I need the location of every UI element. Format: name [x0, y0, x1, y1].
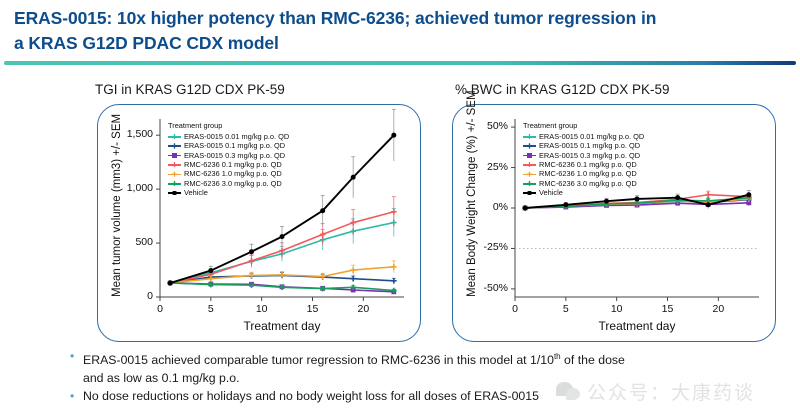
chart-panel-bwc: 50%25%0%-25%-50%05101520Treatment dayMea…: [452, 104, 776, 342]
legend-marker-icon: [168, 188, 181, 197]
legend-marker-icon: [523, 160, 536, 169]
data-point: [249, 249, 254, 254]
legend-item-label: Vehicle: [184, 188, 208, 197]
y-tick-label: -25%: [453, 241, 508, 253]
data-point: [351, 175, 356, 180]
legend-item: RMC-6236 3.0 mg/kg p.o. QD: [523, 179, 644, 188]
legend-item-label: RMC-6236 0.1 mg/kg p.o. QD: [539, 160, 637, 169]
bullet-dot-icon: •: [70, 348, 83, 365]
y-tick-label: 1,000: [98, 182, 153, 194]
slide-root: ERAS-0015: 10x higher potency than RMC-6…: [0, 0, 800, 413]
chart-title-tgi: TGI in KRAS G12D CDX PK-59: [95, 82, 285, 97]
page-title-line-1: ERAS-0015: 10x higher potency than RMC-6…: [14, 6, 789, 31]
legend-title: Treatment group: [523, 121, 644, 130]
data-point: [168, 280, 173, 285]
legend-marker-icon: [168, 170, 181, 179]
legend-marker-icon: [168, 160, 181, 169]
x-tick-label: 0: [501, 303, 529, 315]
legend-item: ERAS-0015 0.1 mg/kg p.o. QD: [168, 141, 289, 150]
legend-item-label: RMC-6236 0.1 mg/kg p.o. QD: [184, 160, 282, 169]
x-tick-label: 10: [248, 303, 276, 315]
legend-item-label: RMC-6236 3.0 mg/kg p.o. QD: [184, 179, 282, 188]
data-point: [675, 195, 680, 200]
data-point: [391, 133, 396, 138]
x-axis-label: Treatment day: [160, 319, 404, 333]
data-point: [208, 268, 213, 273]
bullet-text-1: ERAS-0015 achieved comparable tumor regr…: [83, 348, 630, 387]
x-tick-label: 5: [197, 303, 225, 315]
legend-item: Vehicle: [168, 188, 289, 197]
data-point: [563, 202, 568, 207]
legend-item: RMC-6236 1.0 mg/kg p.o. QD: [168, 169, 289, 178]
chart-plot-bwc: 50%25%0%-25%-50%05101520Treatment dayMea…: [453, 105, 775, 341]
legend-marker-icon: [523, 151, 536, 160]
legend-item-label: ERAS-0015 0.1 mg/kg p.o. QD: [184, 141, 285, 150]
legend-item-label: ERAS-0015 0.1 mg/kg p.o. QD: [539, 141, 640, 150]
bullet-list: • ERAS-0015 achieved comparable tumor re…: [70, 348, 630, 407]
legend-item: RMC-6236 3.0 mg/kg p.o. QD: [168, 179, 289, 188]
y-tick-label: 1,500: [98, 128, 153, 140]
x-tick-label: 15: [654, 303, 682, 315]
data-point: [706, 202, 711, 207]
legend-item-label: RMC-6236 3.0 mg/kg p.o. QD: [539, 179, 637, 188]
bullet-1-sup: th: [554, 352, 561, 361]
x-tick-label: 10: [603, 303, 631, 315]
x-tick-label: 15: [299, 303, 327, 315]
x-tick-label: 0: [146, 303, 174, 315]
y-tick-label: 500: [98, 236, 153, 248]
legend-item-label: ERAS-0015 0.3 mg/kg p.o. QD: [539, 151, 640, 160]
y-tick-label: -50%: [453, 282, 508, 294]
legend-item: ERAS-0015 0.3 mg/kg p.o. QD: [523, 151, 644, 160]
legend-marker-icon: [523, 132, 536, 141]
legend-marker-icon: [168, 179, 181, 188]
data-point: [746, 192, 751, 197]
title-divider-bar: [4, 61, 796, 65]
legend-marker-icon: [523, 170, 536, 179]
legend-item-label: RMC-6236 1.0 mg/kg p.o. QD: [184, 169, 282, 178]
legend-marker-icon: [523, 179, 536, 188]
legend-item-label: ERAS-0015 0.01 mg/kg p.o. QD: [184, 132, 289, 141]
legend-item: Vehicle: [523, 188, 644, 197]
legend-item-label: Vehicle: [539, 188, 563, 197]
data-point: [320, 208, 325, 213]
data-point: [604, 199, 609, 204]
legend-item: RMC-6236 0.1 mg/kg p.o. QD: [168, 160, 289, 169]
y-tick-label: 0%: [453, 201, 508, 213]
page-title: ERAS-0015: 10x higher potency than RMC-6…: [14, 6, 789, 56]
bullet-text-2: No dose reductions or holidays and no bo…: [83, 388, 539, 406]
page-title-line-2: a KRAS G12D PDAC CDX model: [14, 31, 789, 56]
chart-panel-tgi: 05001,0001,50005101520Treatment dayMean …: [97, 104, 421, 342]
legend-item: ERAS-0015 0.01 mg/kg p.o. QD: [523, 132, 644, 141]
chart-title-bwc: % BWC in KRAS G12D CDX PK-59: [455, 82, 670, 97]
bullet-1-before: ERAS-0015 achieved comparable tumor regr…: [83, 353, 554, 367]
y-tick-label: 0: [98, 290, 153, 302]
chart-plot-tgi: 05001,0001,50005101520Treatment dayMean …: [98, 105, 420, 341]
legend-marker-icon: [523, 188, 536, 197]
legend-item-label: ERAS-0015 0.3 mg/kg p.o. QD: [184, 151, 285, 160]
legend-item: ERAS-0015 0.01 mg/kg p.o. QD: [168, 132, 289, 141]
legend-marker-icon: [168, 151, 181, 160]
x-tick-label: 20: [704, 303, 732, 315]
bullet-dot-icon: •: [70, 388, 83, 405]
y-axis-label: Mean Body Weight Change (%) +/- SEM: [466, 90, 478, 297]
legend-item: RMC-6236 0.1 mg/kg p.o. QD: [523, 160, 644, 169]
legend-item-label: ERAS-0015 0.01 mg/kg p.o. QD: [539, 132, 644, 141]
legend-marker-icon: [523, 141, 536, 150]
list-item: • No dose reductions or holidays and no …: [70, 388, 630, 406]
y-tick-label: 25%: [453, 161, 508, 173]
list-item: • ERAS-0015 achieved comparable tumor re…: [70, 348, 630, 387]
legend-item: RMC-6236 1.0 mg/kg p.o. QD: [523, 169, 644, 178]
legend-marker-icon: [168, 141, 181, 150]
x-tick-label: 5: [552, 303, 580, 315]
legend-item: ERAS-0015 0.3 mg/kg p.o. QD: [168, 151, 289, 160]
legend-marker-icon: [168, 132, 181, 141]
x-axis-label: Treatment day: [515, 319, 759, 333]
y-axis-label: Mean tumor volume (mm3) +/- SEM: [111, 114, 123, 297]
legend-item: ERAS-0015 0.1 mg/kg p.o. QD: [523, 141, 644, 150]
legend-item-label: RMC-6236 1.0 mg/kg p.o. QD: [539, 169, 637, 178]
data-point: [280, 234, 285, 239]
data-point: [523, 206, 528, 211]
chart-legend: Treatment groupERAS-0015 0.01 mg/kg p.o.…: [523, 121, 644, 198]
chart-legend: Treatment groupERAS-0015 0.01 mg/kg p.o.…: [168, 121, 289, 198]
series-6: [167, 280, 396, 293]
y-tick-label: 50%: [453, 120, 508, 132]
x-tick-label: 20: [349, 303, 377, 315]
legend-title: Treatment group: [168, 121, 289, 130]
